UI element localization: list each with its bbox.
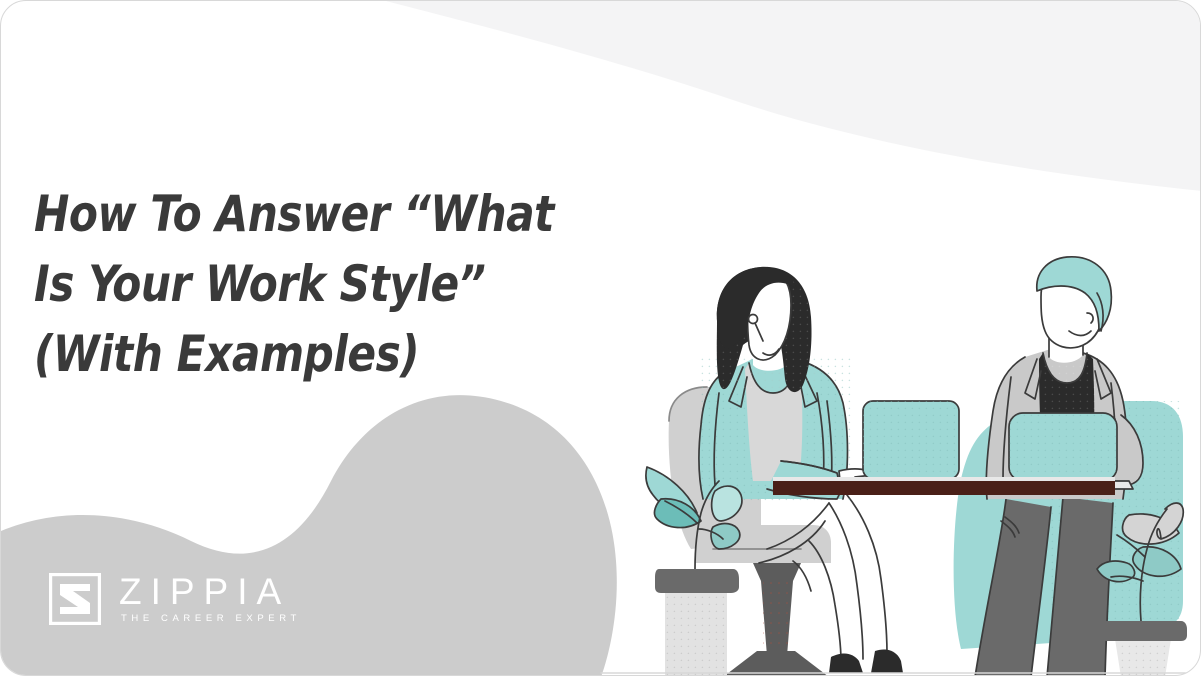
background-swoosh-top-right xyxy=(386,1,1201,191)
desk xyxy=(773,477,1115,495)
article-cover-canvas: How To Answer “What Is Your Work Style” … xyxy=(0,0,1201,676)
man-figure xyxy=(975,257,1143,676)
title-line-1: How To Answer “What xyxy=(34,179,617,249)
plant-left xyxy=(646,467,742,676)
zippia-tagline: THE CAREER EXPERT xyxy=(121,613,301,625)
woman-figure xyxy=(699,263,903,673)
zippia-wordmark: ZIPPIA xyxy=(119,573,301,611)
armchair-man xyxy=(954,401,1183,649)
title-line-3: (With Examples) xyxy=(34,319,617,389)
zippia-logo[interactable]: ZIPPIA THE CAREER EXPERT xyxy=(49,573,301,625)
page-title: How To Answer “What Is Your Work Style” … xyxy=(34,179,654,389)
zippia-logo-text: ZIPPIA THE CAREER EXPERT xyxy=(119,573,301,625)
office-chair-woman xyxy=(669,387,831,676)
title-line-2: Is Your Work Style” xyxy=(34,249,617,319)
zippia-z-mark xyxy=(49,573,101,625)
plant-right xyxy=(1097,503,1187,676)
background-blob-bottom-left xyxy=(1,395,617,676)
laptop-right xyxy=(995,413,1133,489)
laptop-left xyxy=(853,401,971,487)
